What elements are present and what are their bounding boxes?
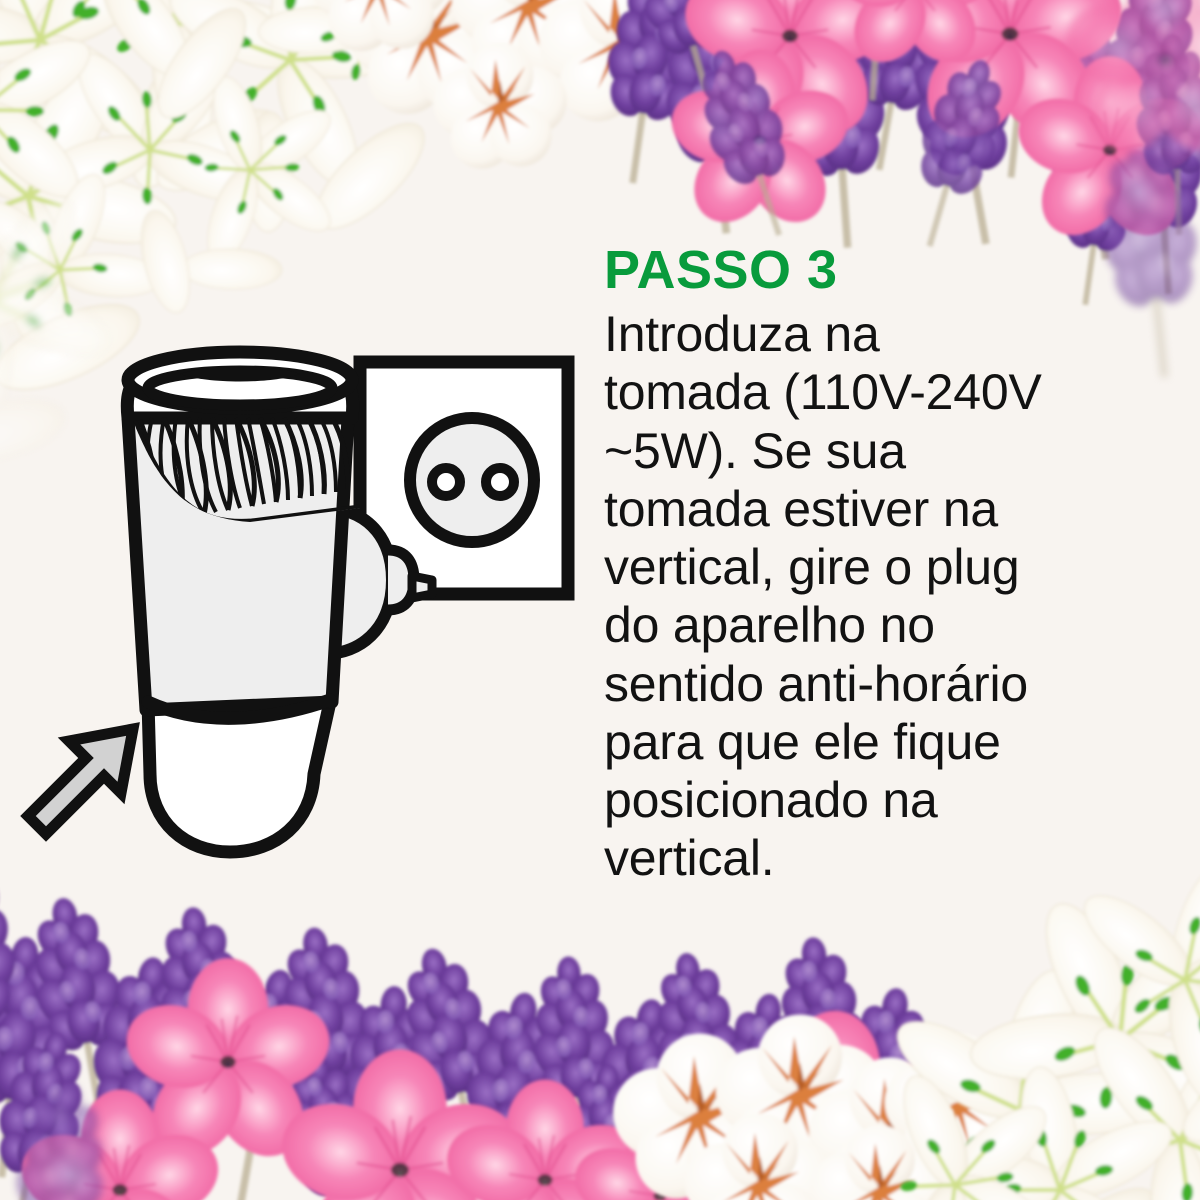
step-body-text: Introduza na tomada (110V-240V ~5W). Se … <box>604 305 1114 888</box>
air-freshener-device <box>127 352 360 852</box>
text-panel: PASSO 3 Introduza na tomada (110V-240V ~… <box>604 243 1114 888</box>
cotton-cluster-bottom-right <box>613 1014 1035 1200</box>
body-line: do aparelho no <box>604 596 1114 654</box>
pink-geranium-cluster-bottom-left <box>11 958 961 1200</box>
body-line: ~5W). Se sua <box>604 422 1114 480</box>
body-line: para que ele fique <box>604 713 1114 771</box>
instruction-illustration <box>0 250 600 870</box>
up-right-arrow-icon <box>28 729 133 834</box>
illustration-svg <box>0 250 600 870</box>
body-line: tomada estiver na <box>604 480 1114 538</box>
step-heading: PASSO 3 <box>604 243 1114 297</box>
body-line: posicionado na <box>604 771 1114 829</box>
lavender-overlay-top-right <box>678 32 1200 258</box>
body-line: vertical. <box>604 829 1114 887</box>
lavender-cluster-bottom-left <box>0 857 948 1200</box>
body-line: vertical, gire o plug <box>604 538 1114 596</box>
body-line: Introduza na <box>604 305 1114 363</box>
body-line: sentido anti-horário <box>604 655 1114 713</box>
poster-canvas: PASSO 3 Introduza na tomada (110V-240V ~… <box>0 0 1200 1200</box>
cotton-cluster-top <box>310 0 826 169</box>
body-line: tomada (110V-240V <box>604 363 1114 421</box>
pink-geranium-cluster-top-right <box>662 0 1200 251</box>
